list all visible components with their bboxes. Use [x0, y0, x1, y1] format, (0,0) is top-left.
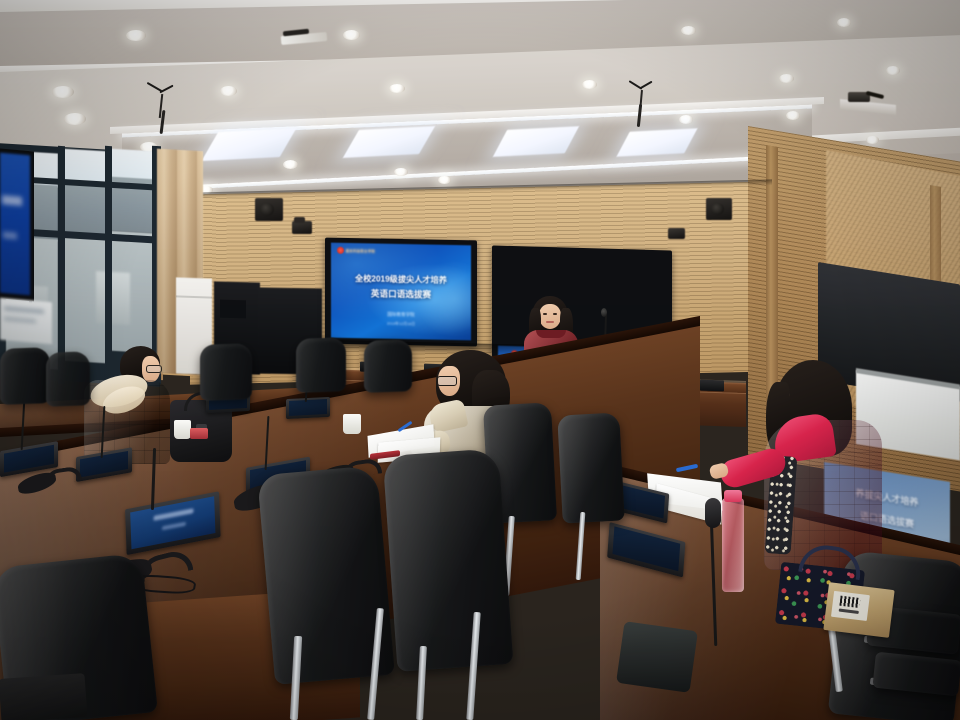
downlight: [438, 176, 451, 184]
chair-back-row[interactable]: [364, 339, 412, 393]
conference-room-photo: 重庆科技职业学院 全校2019级拔尖人才培养 英语口语选拔赛 国际教育学院 20…: [0, 0, 960, 720]
water-bottle-pink[interactable]: [722, 498, 744, 592]
speaker-mouth: [546, 321, 554, 323]
rack-panel: [220, 300, 246, 319]
slide-date: 2019年12月16日: [331, 321, 471, 329]
downlight: [389, 84, 405, 93]
left-wall-tv-screen: [0, 153, 30, 296]
desk-mic-base: [700, 380, 724, 392]
chair-back-row[interactable]: [0, 347, 50, 405]
wall-camera: [668, 228, 685, 239]
speaker-eye: [553, 313, 557, 315]
university-logo-text: 重庆科技职业学院: [346, 248, 376, 254]
wall-speaker: [255, 198, 283, 221]
downlight: [886, 66, 900, 75]
window-pane-sky: [64, 149, 106, 183]
downlight: [786, 111, 800, 120]
downlight: [866, 136, 879, 144]
wall-camera: [292, 221, 312, 234]
wall-speaker: [706, 198, 732, 220]
display-screen-left[interactable]: 重庆科技职业学院 全校2019级拔尖人才培养 英语口语选拔赛 国际教育学院 20…: [331, 243, 471, 341]
speaker-hood-collar: [536, 330, 566, 338]
slide-organization: 国际教育学院: [331, 311, 471, 320]
paper-cup: [174, 420, 191, 439]
left-wall-tv-text: [3, 231, 17, 239]
outside-building: [96, 271, 130, 325]
window-pane-mountain: [64, 180, 106, 238]
downlight: [837, 18, 851, 27]
speaker-face: [539, 304, 561, 329]
downlight: [220, 86, 237, 96]
cardboard-box[interactable]: [823, 582, 894, 638]
speaker-eye: [543, 313, 547, 315]
chair-mid[interactable]: [557, 412, 625, 523]
judge-center-glasses: [437, 376, 457, 386]
chair-back-row[interactable]: [46, 351, 90, 407]
small-red-item: [190, 428, 208, 439]
university-logo-mark: [337, 247, 344, 254]
judge-left-glasses: [146, 365, 162, 373]
left-wall-tv-text: [2, 195, 22, 206]
downlight: [126, 30, 146, 41]
chair-back-row[interactable]: [200, 343, 252, 401]
presentation-logo: 重庆科技职业学院: [337, 247, 376, 255]
downlight: [779, 74, 794, 83]
downlight: [394, 168, 408, 176]
chair-foreground[interactable]: [383, 448, 514, 672]
slide-title-line1: 全校2019级拔尖人才培养: [331, 271, 471, 286]
chair-back-row[interactable]: [296, 337, 346, 393]
foreground-equipment: [0, 673, 87, 720]
microphone-foam-windscreen: [705, 498, 721, 528]
hanging-microphone-boom: [146, 86, 176, 116]
downlight: [343, 30, 360, 40]
downlight: [52, 86, 74, 98]
foreground-bag: [616, 621, 698, 693]
water-bottle-cap: [724, 490, 742, 502]
slide-title-line2: 英语口语选拔赛: [331, 286, 471, 301]
downlight: [283, 160, 298, 169]
paper-cup: [343, 414, 361, 434]
downlight: [64, 113, 86, 125]
downlight: [681, 26, 696, 35]
downlight: [582, 80, 597, 89]
downlight: [679, 115, 693, 124]
conference-mic-unit[interactable]: [286, 397, 330, 423]
podium-microphone-head: [601, 308, 607, 317]
